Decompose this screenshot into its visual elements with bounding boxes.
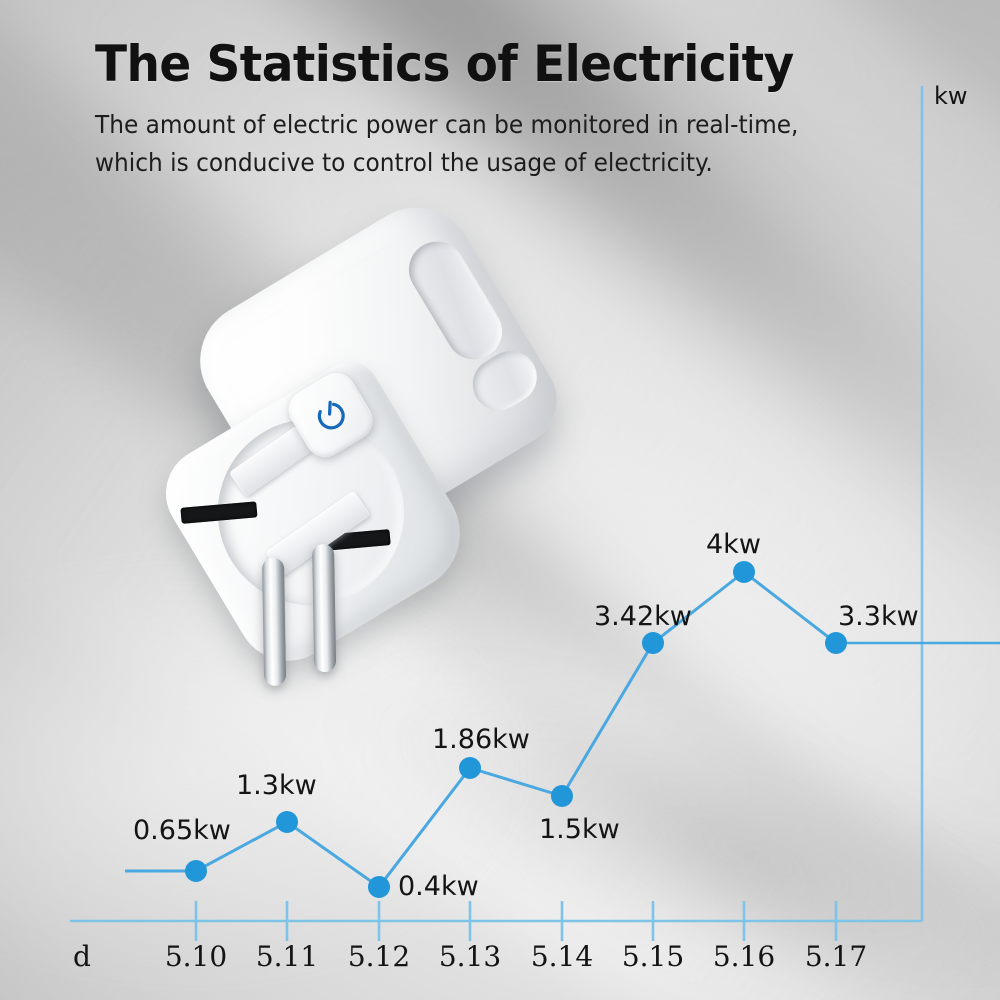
data-label: 1.3kw bbox=[236, 770, 317, 801]
data-point[interactable] bbox=[276, 811, 298, 833]
x-tick-label: 5.15 bbox=[622, 940, 684, 973]
data-label: 1.86kw bbox=[432, 724, 530, 755]
x-tick-labels: 5.10 5.11 5.12 5.13 5.14 5.15 5.16 5.17 bbox=[165, 940, 867, 973]
page-subtitle-line-2: which is conducive to control the usage … bbox=[95, 145, 798, 181]
data-point[interactable] bbox=[825, 632, 847, 654]
page-subtitle-line-1: The amount of electric power can be moni… bbox=[95, 107, 798, 143]
data-label: 3.3kw bbox=[838, 601, 919, 632]
header: The Statistics of Electricity The amount… bbox=[95, 38, 851, 182]
data-label: 0.65kw bbox=[133, 815, 231, 846]
data-label: 1.5kw bbox=[539, 814, 620, 845]
data-point[interactable] bbox=[459, 757, 481, 779]
x-tick-label: 5.12 bbox=[348, 940, 410, 973]
x-axis-unit-label: d bbox=[73, 940, 91, 973]
data-point[interactable] bbox=[642, 632, 664, 654]
data-label: 3.42kw bbox=[594, 601, 692, 632]
x-tick-label: 5.10 bbox=[165, 940, 227, 973]
y-axis-unit-label: kw bbox=[934, 82, 968, 110]
x-tick-label: 5.11 bbox=[256, 940, 318, 973]
x-tick-label: 5.14 bbox=[531, 940, 593, 973]
x-tick-label: 5.17 bbox=[805, 940, 867, 973]
data-point[interactable] bbox=[185, 860, 207, 882]
data-label: 0.4kw bbox=[398, 871, 479, 902]
x-tick-label: 5.13 bbox=[439, 940, 501, 973]
data-labels: 0.65kw 1.3kw 0.4kw 1.86kw 1.5kw 3.42kw 4… bbox=[133, 529, 919, 902]
data-point[interactable] bbox=[551, 785, 573, 807]
chart-axes bbox=[70, 86, 1000, 921]
x-tick-label: 5.16 bbox=[713, 940, 775, 973]
data-point[interactable] bbox=[368, 876, 390, 898]
page-title: The Statistics of Electricity bbox=[95, 38, 806, 91]
data-label: 4kw bbox=[706, 529, 761, 560]
data-point[interactable] bbox=[733, 561, 755, 583]
